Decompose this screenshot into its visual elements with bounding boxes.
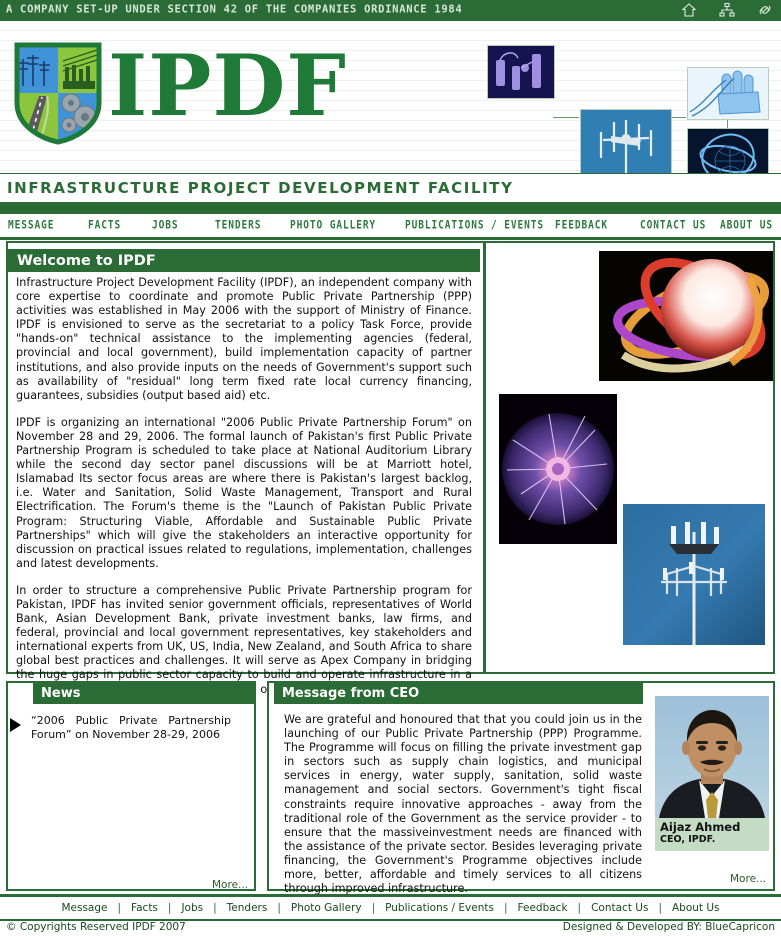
ceo-caption: Aijaz Ahmed CEO, IPDF. (655, 818, 769, 851)
nav-item-jobs[interactable]: JOBS (152, 219, 178, 233)
ceo-panel-header: Message from CEO (274, 683, 643, 704)
welcome-paragraph-2: IPDF is organizing an international "200… (16, 416, 472, 571)
welcome-paragraph-1: Infrastructure Project Development Facil… (16, 276, 472, 403)
nav-item-tenders[interactable]: TENDERS (215, 219, 261, 233)
bullet-triangle-icon (10, 718, 21, 732)
green-divider-band (0, 202, 781, 214)
news-list: “2006 Public Private Partnership Forum” … (10, 714, 242, 741)
top-green-bar: A COMPANY SET-UP UNDER SECTION 42 OF THE… (0, 0, 781, 21)
footer-link-contact-us[interactable]: Contact Us (581, 902, 658, 914)
ceo-name: Aijaz Ahmed (660, 820, 769, 834)
banner-connector-2 (670, 117, 686, 118)
nav-item-facts[interactable]: FACTS (88, 219, 121, 233)
globe-rings-photo (687, 128, 769, 173)
company-tagline: A COMPANY SET-UP UNDER SECTION 42 OF THE… (6, 3, 462, 16)
banner-connector-1 (553, 117, 579, 118)
footer-link-tenders[interactable]: Tenders (217, 902, 278, 914)
main-navigation: MESSAGEFACTSJOBSTENDERSPHOTO GALLERYPUBL… (0, 215, 781, 240)
news-panel (6, 681, 256, 891)
news-item-text: “2006 Public Private Partnership Forum” … (31, 714, 231, 741)
ceo-portrait-photo (655, 696, 769, 818)
copyright-text: © Copyrights Reserved IPDF 2007 (6, 921, 186, 933)
content-vertical-divider (483, 243, 486, 672)
ceo-message-text: We are grateful and honoured that that y… (284, 713, 642, 896)
page-title: INFRASTRUCTURE PROJECT DEVELOPMENT FACIL… (7, 179, 514, 197)
news-more-link[interactable]: More... (212, 879, 248, 891)
developer-credit[interactable]: Designed & Developed BY: BlueCapricon (563, 921, 775, 933)
electrical-insulators-photo (487, 45, 555, 99)
home-icon[interactable] (681, 2, 697, 18)
footer-link-about-us[interactable]: About Us (662, 902, 730, 914)
footer-link-jobs[interactable]: Jobs (171, 902, 213, 914)
footer-navigation: Message|Facts|Jobs|Tenders|Photo Gallery… (0, 894, 781, 921)
page-root: A COMPANY SET-UP UNDER SECTION 42 OF THE… (0, 0, 781, 936)
footer-link-publications-events[interactable]: Publications / Events (375, 902, 504, 914)
nav-item-feedback[interactable]: FEEDBACK (555, 219, 608, 233)
welcome-article: Infrastructure Project Development Facil… (16, 276, 472, 724)
plasma-ball-photo (499, 394, 617, 544)
cell-tower-photo (623, 504, 765, 645)
ceo-role: CEO, IPDF. (660, 834, 769, 846)
site-title-bar: INFRASTRUCTURE PROJECT DEVELOPMENT FACIL… (0, 173, 781, 203)
fiber-optic-hand-photo (687, 67, 769, 120)
welcome-heading-text: Welcome to IPDF (17, 253, 156, 269)
nav-item-photo-gallery[interactable]: PHOTO GALLERY (290, 219, 376, 233)
news-list-item[interactable]: “2006 Public Private Partnership Forum” … (10, 714, 242, 741)
footer-link-message[interactable]: Message (51, 902, 117, 914)
footer-link-facts[interactable]: Facts (121, 902, 168, 914)
news-panel-header: News (33, 683, 254, 704)
nav-item-publications-events[interactable]: PUBLICATIONS / EVENTS (405, 219, 544, 233)
top-icon-group (681, 2, 773, 18)
welcome-image-column (489, 246, 773, 670)
footer-link-feedback[interactable]: Feedback (508, 902, 578, 914)
telecom-mast-photo (580, 109, 672, 173)
ceo-more-link[interactable]: More... (730, 873, 766, 885)
nav-item-contact-us[interactable]: CONTACT US (640, 219, 706, 233)
welcome-section-header: Welcome to IPDF (8, 249, 480, 272)
ceo-heading-text: Message from CEO (282, 686, 419, 701)
ipdf-shield-logo (13, 41, 103, 146)
nav-item-about-us[interactable]: ABOUT US (720, 219, 773, 233)
ipdf-wordmark: IPDF (108, 44, 347, 128)
orbital-sphere-photo (599, 251, 773, 381)
link-icon[interactable] (757, 2, 773, 18)
ceo-profile-card: Aijaz Ahmed CEO, IPDF. (655, 696, 769, 851)
news-heading-text: News (41, 686, 80, 701)
footer-link-photo-gallery[interactable]: Photo Gallery (281, 902, 372, 914)
nav-item-message[interactable]: MESSAGE (8, 219, 54, 233)
sitemap-icon[interactable] (719, 2, 735, 18)
header-banner: IPDF (0, 21, 781, 173)
